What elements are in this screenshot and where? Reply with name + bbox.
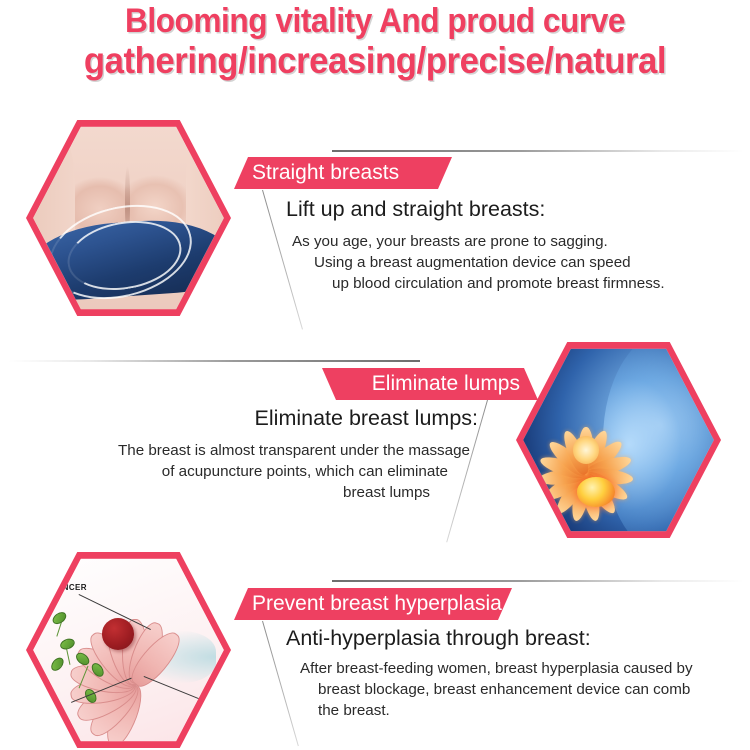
section-1-body: As you age, your breasts are prone to sa… bbox=[292, 231, 712, 294]
section-3-body-line-1: After breast-feeding women, breast hyper… bbox=[300, 658, 730, 679]
section-2-body-line-3: breast lumps bbox=[40, 482, 470, 503]
shoulder-right-shape bbox=[186, 129, 224, 311]
cancer-cluster-marker bbox=[102, 618, 134, 650]
lobes-cluster bbox=[64, 583, 205, 721]
section-2-badge-label: Eliminate lumps bbox=[372, 373, 520, 396]
section-2-body-line-1: The breast is almost transparent under t… bbox=[40, 440, 470, 461]
page-title: Blooming vitality And proud curve gather… bbox=[0, 0, 750, 81]
bust-with-blue-bra-photo bbox=[33, 125, 224, 311]
section-2-body-line-2: of acupuncture points, which can elimina… bbox=[40, 461, 470, 482]
section-3-badge-label: Prevent breast hyperplasia bbox=[252, 593, 502, 616]
page-title-line-2: gathering/increasing/precise/natural bbox=[23, 40, 728, 81]
section-3-badge: Prevent breast hyperplasia bbox=[234, 588, 512, 620]
section-3-body-line-2: breast blockage, breast enhancement devi… bbox=[300, 679, 730, 700]
section-2-image-inner bbox=[523, 347, 714, 533]
section-1-divider bbox=[332, 150, 744, 152]
blue-xray-mammary-gland-illustration bbox=[523, 347, 714, 533]
section-1-body-line-1: As you age, your breasts are prone to sa… bbox=[292, 231, 712, 252]
section-2-divider bbox=[8, 360, 420, 362]
section-1-image-inner bbox=[33, 125, 224, 311]
section-3-image-inner: CANCER bbox=[33, 557, 224, 743]
section-2-badge: Eliminate lumps bbox=[322, 368, 538, 400]
section-3-body: After breast-feeding women, breast hyper… bbox=[300, 658, 730, 721]
section-3-body-line-3: the breast. bbox=[300, 700, 730, 721]
section-2-body: The breast is almost transparent under t… bbox=[40, 440, 470, 503]
section-1-badge: Straight breasts bbox=[234, 157, 452, 189]
section-3-hexagon-image: CANCER bbox=[26, 550, 231, 750]
section-1-badge-label: Straight breasts bbox=[252, 162, 399, 185]
section-2-hexagon-image bbox=[516, 340, 721, 540]
highlighted-lump-marker bbox=[577, 477, 615, 507]
section-1-hexagon-image bbox=[26, 118, 231, 318]
page-title-line-1: Blooming vitality And proud curve bbox=[26, 2, 724, 40]
section-3-divider bbox=[332, 580, 744, 582]
section-1-body-line-2: Using a breast augmentation device can s… bbox=[292, 252, 712, 273]
section-3-heading: Anti-hyperplasia through breast: bbox=[286, 625, 591, 651]
breast-duct-anatomy-diagram: CANCER bbox=[33, 557, 224, 743]
section-1-body-line-3: up blood circulation and promote breast … bbox=[292, 273, 712, 294]
cancer-label: CANCER bbox=[50, 583, 87, 592]
section-2-heading: Eliminate breast lumps: bbox=[40, 405, 478, 431]
section-1-heading: Lift up and straight breasts: bbox=[286, 196, 545, 222]
